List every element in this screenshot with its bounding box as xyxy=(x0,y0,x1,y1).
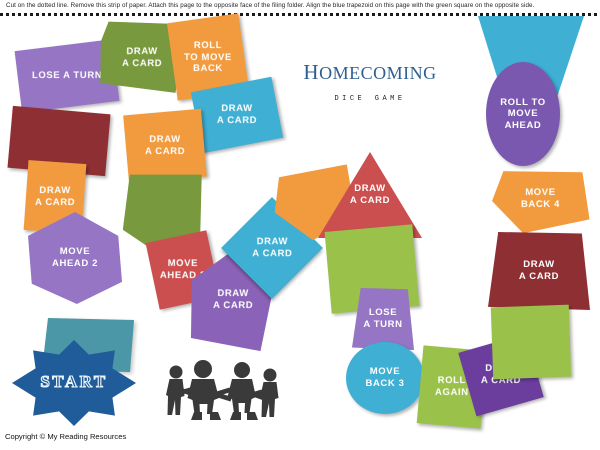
space-label: MoveBack 3 xyxy=(363,366,408,389)
game-title-block: Homecoming Dice Game xyxy=(280,55,460,104)
cut-instruction-text: Cut on the dotted line. Remove this stri… xyxy=(6,2,594,9)
page-subtitle: Dice Game xyxy=(280,93,460,104)
space-move-back-4-orange[interactable]: MoveBack 4 xyxy=(490,163,590,236)
space-label: RollTo MoveBack xyxy=(181,40,235,75)
copyright-notice: Copyright © My Reading Resources xyxy=(5,432,126,441)
space-label: DrawA Card xyxy=(214,103,260,126)
page-title: Homecoming xyxy=(280,55,460,85)
space-label: DrawA Card xyxy=(249,236,295,259)
space-label: LoseA Turn xyxy=(360,307,405,330)
space-green-blank-3[interactable] xyxy=(491,305,571,380)
space-lose-a-turn-purple-2[interactable]: LoseA Turn xyxy=(352,288,414,350)
game-board: Cut on the dotted line. Remove this stri… xyxy=(0,0,600,450)
space-draw-a-card-darkred[interactable]: DrawA Card xyxy=(488,232,590,310)
dotted-cut-line xyxy=(0,13,600,16)
space-label: Lose A Turn xyxy=(29,70,105,82)
space-draw-a-card-orange-2[interactable]: DrawA Card xyxy=(123,109,207,184)
space-label: DrawA Card xyxy=(210,288,256,311)
space-roll-to-move-ahead[interactable]: Roll toMoveAhead xyxy=(486,62,560,166)
start-label: Start xyxy=(40,372,107,392)
space-label: MoveAhead 2 xyxy=(49,246,101,269)
space-label: DrawA Card xyxy=(32,185,78,208)
space-move-back-3-circle[interactable]: MoveBack 3 xyxy=(346,342,424,414)
family-silhouette xyxy=(158,358,286,426)
space-label: MoveBack 4 xyxy=(518,187,563,210)
space-label: DrawA Card xyxy=(516,259,562,282)
start-space[interactable]: Start xyxy=(12,340,136,426)
space-label: Roll toMoveAhead xyxy=(497,97,549,132)
space-label: DrawA Card xyxy=(119,46,165,69)
space-label: DrawA Card xyxy=(142,134,188,157)
space-label: DrawA Card xyxy=(347,183,393,206)
